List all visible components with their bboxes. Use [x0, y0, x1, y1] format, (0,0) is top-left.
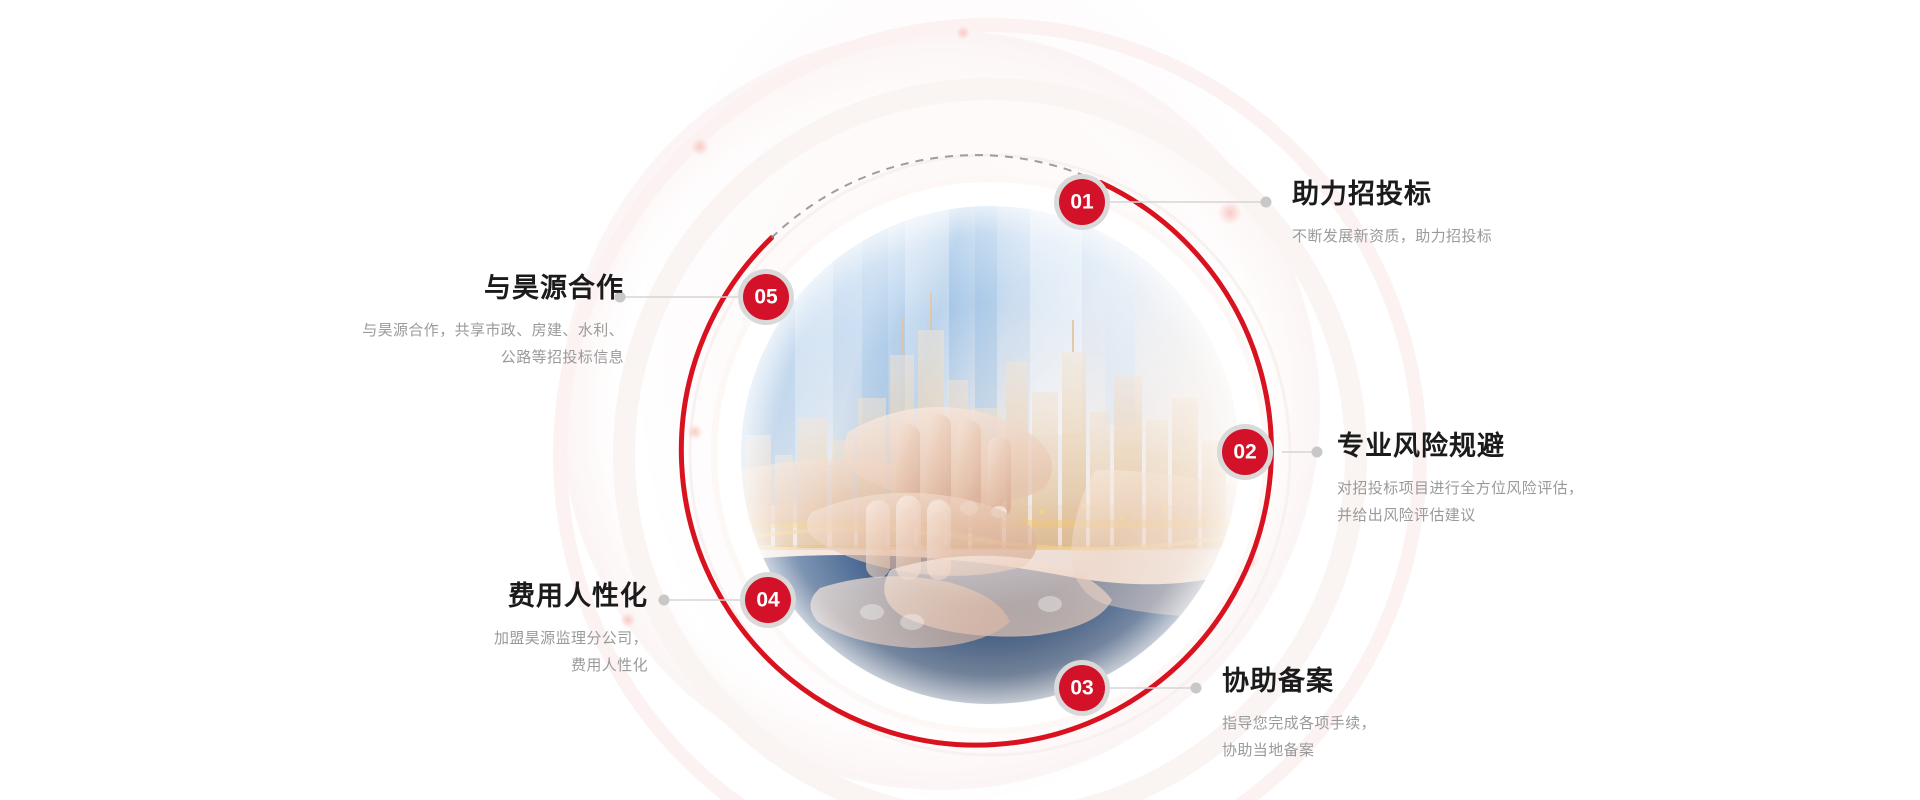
- decorative-dot: [691, 138, 709, 156]
- connector-dot-02: [1312, 447, 1323, 458]
- item-title-02: 专业风险规避: [1337, 430, 1583, 462]
- item-title-03: 协助备案: [1222, 665, 1376, 697]
- item-desc-05: 与昊源合作，共享市政、房建、水利、 公路等招投标信息: [362, 318, 624, 371]
- number-badge-01[interactable]: 01: [1054, 174, 1110, 230]
- connector-dot-03: [1191, 683, 1202, 694]
- infographic-stage: 01 02 03 04 05 助力招投标 不断发展新资质，助力招投标: [0, 0, 1920, 800]
- item-title-05: 与昊源合作: [362, 272, 624, 304]
- center-photo: [740, 205, 1240, 705]
- item-desc-02: 对招投标项目进行全方位风险评估， 并给出风险评估建议: [1337, 476, 1583, 529]
- item-desc-line: 费用人性化: [494, 653, 648, 679]
- item-desc-line: 对招投标项目进行全方位风险评估，: [1337, 476, 1583, 502]
- item-desc-line: 不断发展新资质，助力招投标: [1292, 224, 1492, 250]
- item-block-05[interactable]: 与昊源合作 与昊源合作，共享市政、房建、水利、 公路等招投标信息: [362, 272, 624, 371]
- number-badge-02[interactable]: 02: [1217, 424, 1273, 480]
- badge-number-04: 04: [756, 589, 780, 612]
- item-desc-01: 不断发展新资质，助力招投标: [1292, 224, 1492, 250]
- item-title-04: 费用人性化: [494, 580, 648, 612]
- badge-number-03: 03: [1070, 677, 1093, 700]
- item-desc-line: 公路等招投标信息: [362, 345, 624, 371]
- item-title-01: 助力招投标: [1292, 178, 1492, 210]
- item-desc-line: 与昊源合作，共享市政、房建、水利、: [362, 318, 624, 344]
- item-desc-line: 协助当地备案: [1222, 738, 1376, 764]
- badge-number-05: 05: [754, 286, 778, 309]
- item-desc-line: 指导您完成各项手续，: [1222, 711, 1376, 737]
- item-desc-line: 加盟昊源监理分公司，: [494, 626, 648, 652]
- connector-dot-04: [659, 595, 670, 606]
- item-desc-line: 并给出风险评估建议: [1337, 503, 1583, 529]
- item-desc-03: 指导您完成各项手续， 协助当地备案: [1222, 711, 1376, 764]
- badge-number-02: 02: [1233, 441, 1256, 464]
- circular-process-diagram: 01 02 03 04 05: [0, 0, 1920, 800]
- item-block-04[interactable]: 费用人性化 加盟昊源监理分公司， 费用人性化: [494, 580, 648, 679]
- item-block-03[interactable]: 协助备案 指导您完成各项手续， 协助当地备案: [1222, 665, 1376, 764]
- number-badge-04[interactable]: 04: [740, 572, 796, 628]
- decorative-dot: [1218, 201, 1242, 225]
- item-block-02[interactable]: 专业风险规避 对招投标项目进行全方位风险评估， 并给出风险评估建议: [1337, 430, 1583, 529]
- item-desc-04: 加盟昊源监理分公司， 费用人性化: [494, 626, 648, 679]
- connector-dot-01: [1261, 197, 1272, 208]
- number-badge-03[interactable]: 03: [1054, 660, 1110, 716]
- badge-number-01: 01: [1070, 191, 1094, 214]
- number-badge-05[interactable]: 05: [738, 269, 794, 325]
- item-block-01[interactable]: 助力招投标 不断发展新资质，助力招投标: [1292, 178, 1492, 251]
- decorative-dot: [956, 26, 970, 40]
- decorative-dot: [687, 424, 703, 440]
